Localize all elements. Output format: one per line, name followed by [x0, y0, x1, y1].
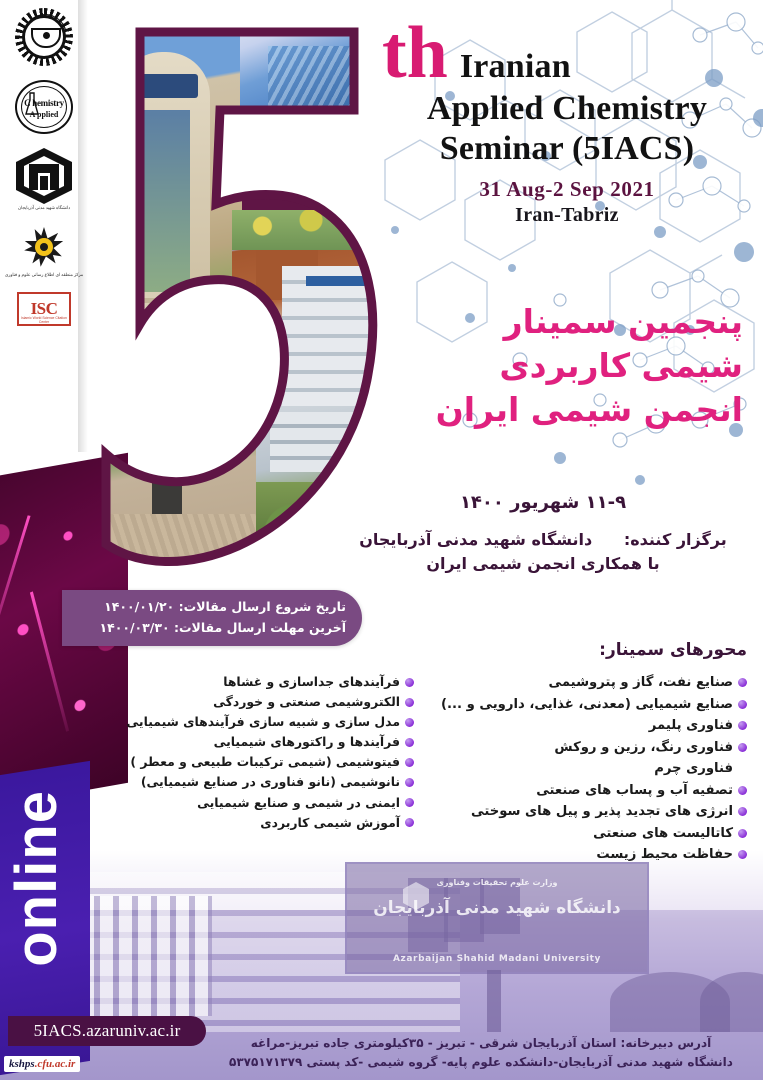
topics-right-column: صنایع نفت، گاز و پتروشیمیصنایع شیمیایی (…: [407, 672, 747, 866]
bullet-icon: [738, 721, 747, 730]
logo-iranian-chemical-society: [15, 8, 73, 66]
topic-left-item: فیتوشیمی (شیمی ترکیبات طبیعی و معطر ): [96, 752, 414, 772]
bullet-icon: [405, 778, 414, 787]
university-entrance-sign: وزارت علوم تحقیقات وفناوری دانشگاه شهید …: [345, 862, 649, 974]
bullet-icon: [405, 698, 414, 707]
topic-left-label: فرآیندها و راکتورهای شیمیایی: [214, 732, 400, 752]
topic-right-label: فناوری پلیمر: [649, 715, 733, 737]
organizer-block: برگزار کننده: دانشگاه شهید مدنی آذربایجا…: [343, 528, 743, 576]
persian-date: ۱۱-۹ شهریور ۱۴۰۰: [343, 492, 743, 513]
logo-regional-science-information-center: مرکز منطقه ای اطلاع رسانی علوم و فناوری: [5, 225, 83, 278]
conference-poster: C hemistryA pplied دانشگاه شهید مدنی آذر…: [0, 0, 763, 1080]
organizer-name: دانشگاه شهید مدنی آذربایجان: [359, 530, 592, 549]
bullet-icon: [405, 718, 414, 727]
topic-left-item: الکتروشیمی صنعتی و خوردگی: [96, 692, 414, 712]
logo-caption-ricest: مرکز منطقه ای اطلاع رسانی علوم و فناوری: [5, 272, 83, 278]
topic-right-item: صنایع شیمیایی (معدنی، غذایی، دارویی و ..…: [407, 694, 747, 716]
kshps-mini-logo[interactable]: kshps.cfu.ac.ir: [4, 1056, 80, 1072]
bullet-icon: [405, 738, 414, 747]
topic-right-item: حفاظت محیط زیست: [407, 844, 747, 866]
sign-university-fa: دانشگاه شهید مدنی آذربایجان: [347, 898, 647, 918]
title-line-1: Iranian: [460, 50, 571, 84]
topics-heading: محورهای سمینار:: [599, 640, 747, 660]
city-english: Iran-Tabriz: [378, 204, 756, 227]
address-line-1: آدرس دبیرخانه: استان آذربایجان شرقی - تب…: [213, 1034, 749, 1053]
topic-right-label: فناوری چرم: [654, 758, 733, 780]
numeral-five-photo-collage: [92, 14, 384, 570]
bullet-icon: [405, 798, 414, 807]
topic-right-item: کاتالیست های صنعتی: [407, 823, 747, 845]
bullet-icon: [738, 678, 747, 687]
bullet-icon: [405, 818, 414, 827]
topic-right-label: کاتالیست های صنعتی: [593, 823, 733, 845]
deadline-end: آخرین مهلت ارسال مقالات: ۱۴۰۰/۰۳/۳۰: [72, 617, 346, 638]
topic-left-item: فرآیندهای جداسازی و غشاها: [96, 672, 414, 692]
kshps-logo-part1: kshps: [9, 1058, 35, 1070]
topic-left-item: نانوشیمی (نانو فناوری در صنایع شیمیایی): [96, 772, 414, 792]
bullet-icon: [738, 743, 747, 752]
cooperation-line: با همکاری انجمن شیمی ایران: [343, 552, 743, 576]
topic-right-label: صنایع نفت، گاز و پتروشیمی: [549, 672, 734, 694]
logo-isc: ISC Islamic World Science Citation Cente…: [17, 292, 71, 326]
topic-left-item: فرآیندها و راکتورهای شیمیایی: [96, 732, 414, 752]
logo-applied-chemistry-seminar: C hemistryA pplied: [15, 80, 73, 134]
topic-right-label: فناوری رنگ، رزین و روکش: [554, 737, 733, 759]
title-line-3: Seminar (5IACS): [378, 129, 756, 169]
bullet-icon: [738, 786, 747, 795]
topic-left-label: فیتوشیمی (شیمی ترکیبات طبیعی و معطر ): [130, 752, 400, 772]
persian-title-block: پنجمین سمینار شیمی کاربردی انجمن شیمی ای…: [343, 300, 743, 433]
topic-left-label: فرآیندهای جداسازی و غشاها: [223, 672, 400, 692]
bullet-icon: [738, 764, 747, 773]
topic-right-item: فناوری رنگ، رزین و روکش: [407, 737, 747, 759]
topic-right-label: حفاظت محیط زیست: [596, 844, 733, 866]
bullet-icon: [738, 829, 747, 838]
persian-title-line-1: پنجمین سمینار: [343, 300, 743, 344]
topic-left-label: آموزش شیمی کاربردی: [260, 813, 400, 833]
topic-right-item: فناوری پلیمر: [407, 715, 747, 737]
topic-right-item: انرژی های تجدید پذیر و پیل های سوختی: [407, 801, 747, 823]
organizer-label: برگزار کننده:: [624, 530, 727, 549]
persian-title-line-2: شیمی کاربردی: [343, 344, 743, 388]
bullet-icon: [738, 700, 747, 709]
persian-title-line-3: انجمن شیمی ایران: [343, 388, 743, 432]
topic-left-label: الکتروشیمی صنعتی و خوردگی: [213, 692, 400, 712]
dates-english: 31 Aug-2 Sep 2021: [378, 177, 756, 202]
address-line-2: دانشگاه شهید مدنی آذربایجان-دانشکده علوم…: [213, 1053, 749, 1072]
topic-left-item: آموزش شیمی کاربردی: [96, 813, 414, 833]
logo-azarbaijan-shahid-madani-university: دانشگاه شهید مدنی آذربایجان: [16, 148, 72, 211]
topic-left-label: نانوشیمی (نانو فناوری در صنایع شیمیایی): [141, 772, 400, 792]
bullet-icon: [738, 807, 747, 816]
bullet-icon: [405, 678, 414, 687]
conference-website-url[interactable]: 5IACS.azaruniv.ac.ir: [8, 1016, 206, 1046]
submission-deadline-banner: تاریخ شروع ارسال مقالات: ۱۴۰۰/۰۱/۲۰ آخری…: [62, 590, 362, 646]
topic-left-label: ایمنی در شیمی و صنایع شیمیایی: [197, 793, 400, 813]
topic-left-item: مدل سازی و شبیه سازی فرآیندهای شیمیایی: [96, 712, 414, 732]
ordinal-th: th: [382, 20, 448, 87]
topic-right-item: فناوری چرم: [407, 758, 747, 780]
topic-left-label: مدل سازی و شبیه سازی فرآیندهای شیمیایی: [126, 712, 400, 732]
secretariat-address: آدرس دبیرخانه: استان آذربایجان شرقی - تب…: [213, 1034, 749, 1072]
logo-caption-university: دانشگاه شهید مدنی آذربایجان: [18, 205, 70, 211]
topic-right-label: صنایع شیمیایی (معدنی، غذایی، دارویی و ..…: [441, 694, 733, 716]
topic-left-item: ایمنی در شیمی و صنایع شیمیایی: [96, 793, 414, 813]
deadline-start: تاریخ شروع ارسال مقالات: ۱۴۰۰/۰۱/۲۰: [72, 596, 346, 617]
kshps-logo-part2: .cfu.ac.ir: [35, 1058, 76, 1070]
isc-caption: Islamic World Science Citation Center: [19, 316, 69, 324]
online-badge-text: online: [8, 790, 66, 967]
sign-ministry-line: وزارت علوم تحقیقات وفناوری: [347, 878, 647, 887]
sponsor-logo-rail: C hemistryA pplied دانشگاه شهید مدنی آذر…: [0, 0, 88, 452]
topics-left-column: فرآیندهای جداسازی و غشاهاالکتروشیمی صنعت…: [96, 672, 414, 833]
bullet-icon: [738, 850, 747, 859]
topic-right-label: تصفیه آب و پساب های صنعتی: [536, 780, 733, 802]
topic-right-item: تصفیه آب و پساب های صنعتی: [407, 780, 747, 802]
bullet-icon: [405, 758, 414, 767]
title-line-2: Applied Chemistry: [378, 89, 756, 129]
topic-right-label: انرژی های تجدید پذیر و پیل های سوختی: [471, 801, 733, 823]
topic-right-item: صنایع نفت، گاز و پتروشیمی: [407, 672, 747, 694]
english-headline-block: th Iranian Applied Chemistry Seminar (5I…: [378, 20, 756, 227]
sign-university-en: Azarbaijan Shahid Madani University: [347, 954, 647, 964]
